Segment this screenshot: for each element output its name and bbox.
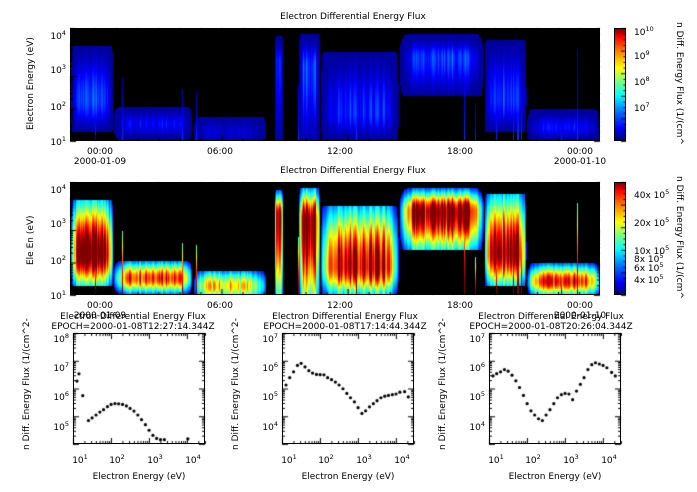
spectrum-2-plot[interactable] <box>282 333 414 444</box>
spectrum-1-ylabel: n Diff. Energy Flux (1/(cm^2- <box>22 318 32 450</box>
spectrum-1-title: Electron Differential Energy Flux <box>60 312 206 322</box>
spectrogram-mid-plot[interactable] <box>70 182 600 295</box>
spectrum-3-xtick-1: 102 <box>525 453 541 466</box>
spectrum-2-ytick-1: 105 <box>262 390 278 403</box>
spectrum-3-xlabel: Electron Energy (eV) <box>509 472 602 482</box>
spectrogram-top-ytick-2: 102 <box>50 100 66 113</box>
spectrum-3-xtick-0: 101 <box>488 453 504 466</box>
spectrogram-top-xtick-0: 00:00 <box>87 147 113 157</box>
spectrogram-mid-ytick-1: 101 <box>50 289 66 302</box>
spectrogram-top-ytick-3: 103 <box>50 63 66 76</box>
spectrum-3-ytick-2: 106 <box>469 361 485 374</box>
spectrogram-mid-xtick-3: 18:00 <box>447 301 473 311</box>
spectrum-2-xlabel: Electron Energy (eV) <box>302 472 395 482</box>
spectrum-3-ytick-1: 105 <box>469 390 485 403</box>
spectrogram-mid-ytick-2: 102 <box>50 254 66 267</box>
spectrum-3-xtick-3: 104 <box>601 453 617 466</box>
spectrum-3-title: Electron Differential Energy Flux <box>478 312 624 322</box>
spectrum-2-title: Electron Differential Energy Flux <box>272 312 418 322</box>
spectrogram-mid-cbtick-4: 20x 105 <box>634 216 669 229</box>
spectrogram-mid-colorbar[interactable] <box>614 182 626 295</box>
spectrogram-mid-xtick-1: 06:00 <box>207 301 233 311</box>
spectrogram-top-cbtick-0: 107 <box>634 101 650 114</box>
spectrum-1-ytick-3: 108 <box>53 332 69 345</box>
spectrogram-top-image <box>71 29 600 141</box>
spectrogram-top-cbtick-2: 109 <box>634 49 650 62</box>
spectrogram-mid-cbtick-0: 4x 105 <box>634 273 664 286</box>
spectrogram-top-xtick-3: 18:00 <box>447 147 473 157</box>
spectrogram-mid-xtick-2: 12:00 <box>327 301 353 311</box>
spectrogram-top-xtick-2: 12:00 <box>327 147 353 157</box>
spectrogram-top-colorbar[interactable] <box>614 28 626 141</box>
spectrum-2-ytick-0: 104 <box>262 420 278 433</box>
figure-canvas: Electron Differential Energy Flux Electr… <box>0 0 697 492</box>
spectrum-2-ytick-2: 106 <box>262 361 278 374</box>
spectrum-3-subtitle: EPOCH=2000-01-08T20:26:04.344Z <box>469 322 632 332</box>
spectrum-1-xtick-2: 103 <box>147 453 163 466</box>
spectrogram-top-colorbar-label: n Diff. Energy Flux (1/(cm^ <box>674 22 684 145</box>
spectrogram-top-plot[interactable] <box>70 28 600 141</box>
spectrum-2-xtick-0: 101 <box>281 453 297 466</box>
spectrogram-top-cbtick-3: 1010 <box>634 25 654 38</box>
spectrum-2-xtick-1: 102 <box>318 453 334 466</box>
spectrogram-top-xdate-right: 2000-01-10 <box>554 157 606 167</box>
spectrogram-top-title: Electron Differential Energy Flux <box>280 12 426 22</box>
spectrum-2-subtitle: EPOCH=2000-01-08T17:14:44.344Z <box>263 322 426 332</box>
spectrogram-top-ylabel: Electron Energy (eV) <box>26 37 36 130</box>
spectrogram-mid-cbtick-5: 40x 105 <box>634 188 669 201</box>
spectrogram-top-cbtick-1: 108 <box>634 75 650 88</box>
spectrogram-top-xtick-4: 00:00 <box>567 147 593 157</box>
spectrum-1-xtick-0: 101 <box>72 453 88 466</box>
spectrogram-mid-xtick-0: 00:00 <box>87 301 113 311</box>
spectrogram-mid-cbtick-3: 10x 105 <box>634 244 669 257</box>
spectrogram-top-ytick-1: 101 <box>50 135 66 148</box>
spectrogram-mid-ytick-3: 103 <box>50 217 66 230</box>
spectrogram-top-xdate-left: 2000-01-09 <box>74 157 126 167</box>
spectrum-3-ytick-0: 104 <box>469 420 485 433</box>
spectrum-3-ylabel: n Diff. Energy Flux (1/(cm^2- <box>438 318 448 450</box>
spectrum-1-xtick-1: 102 <box>109 453 125 466</box>
spectrum-1-xlabel: Electron Energy (eV) <box>93 472 186 482</box>
spectrogram-mid-colorbar-label: n Diff. Energy Flux (1/(cm^ <box>674 176 684 299</box>
spectrogram-mid-title: Electron Differential Energy Flux <box>280 166 426 176</box>
spectrogram-mid-xtick-4: 00:00 <box>567 301 593 311</box>
spectrum-1-plot[interactable] <box>73 333 205 444</box>
spectrum-2-points <box>283 334 415 445</box>
spectrum-2-xtick-2: 103 <box>356 453 372 466</box>
spectrum-2-xtick-3: 104 <box>394 453 410 466</box>
spectrum-3-points <box>490 334 622 445</box>
spectrum-1-points <box>74 334 206 445</box>
spectrum-3-plot[interactable] <box>489 333 621 444</box>
spectrogram-mid-ytick-4: 104 <box>50 183 66 196</box>
spectrum-1-ytick-1: 106 <box>53 390 69 403</box>
spectrum-3-ytick-3: 107 <box>469 332 485 345</box>
spectrum-1-ytick-2: 107 <box>53 361 69 374</box>
spectrum-2-ylabel: n Diff. Energy Flux (1/(cm^2- <box>231 318 241 450</box>
spectrum-2-ytick-3: 107 <box>262 332 278 345</box>
spectrum-3-xtick-2: 103 <box>563 453 579 466</box>
spectrogram-top-xtick-1: 06:00 <box>207 147 233 157</box>
spectrogram-mid-image <box>71 183 600 295</box>
spectrum-1-xtick-3: 104 <box>185 453 201 466</box>
spectrogram-mid-ylabel: Ele En (eV) <box>26 215 36 265</box>
spectrogram-top-ytick-4: 104 <box>50 29 66 42</box>
spectrum-1-subtitle: EPOCH=2000-01-08T12:27:14.344Z <box>51 322 214 332</box>
spectrum-1-ytick-0: 105 <box>53 420 69 433</box>
